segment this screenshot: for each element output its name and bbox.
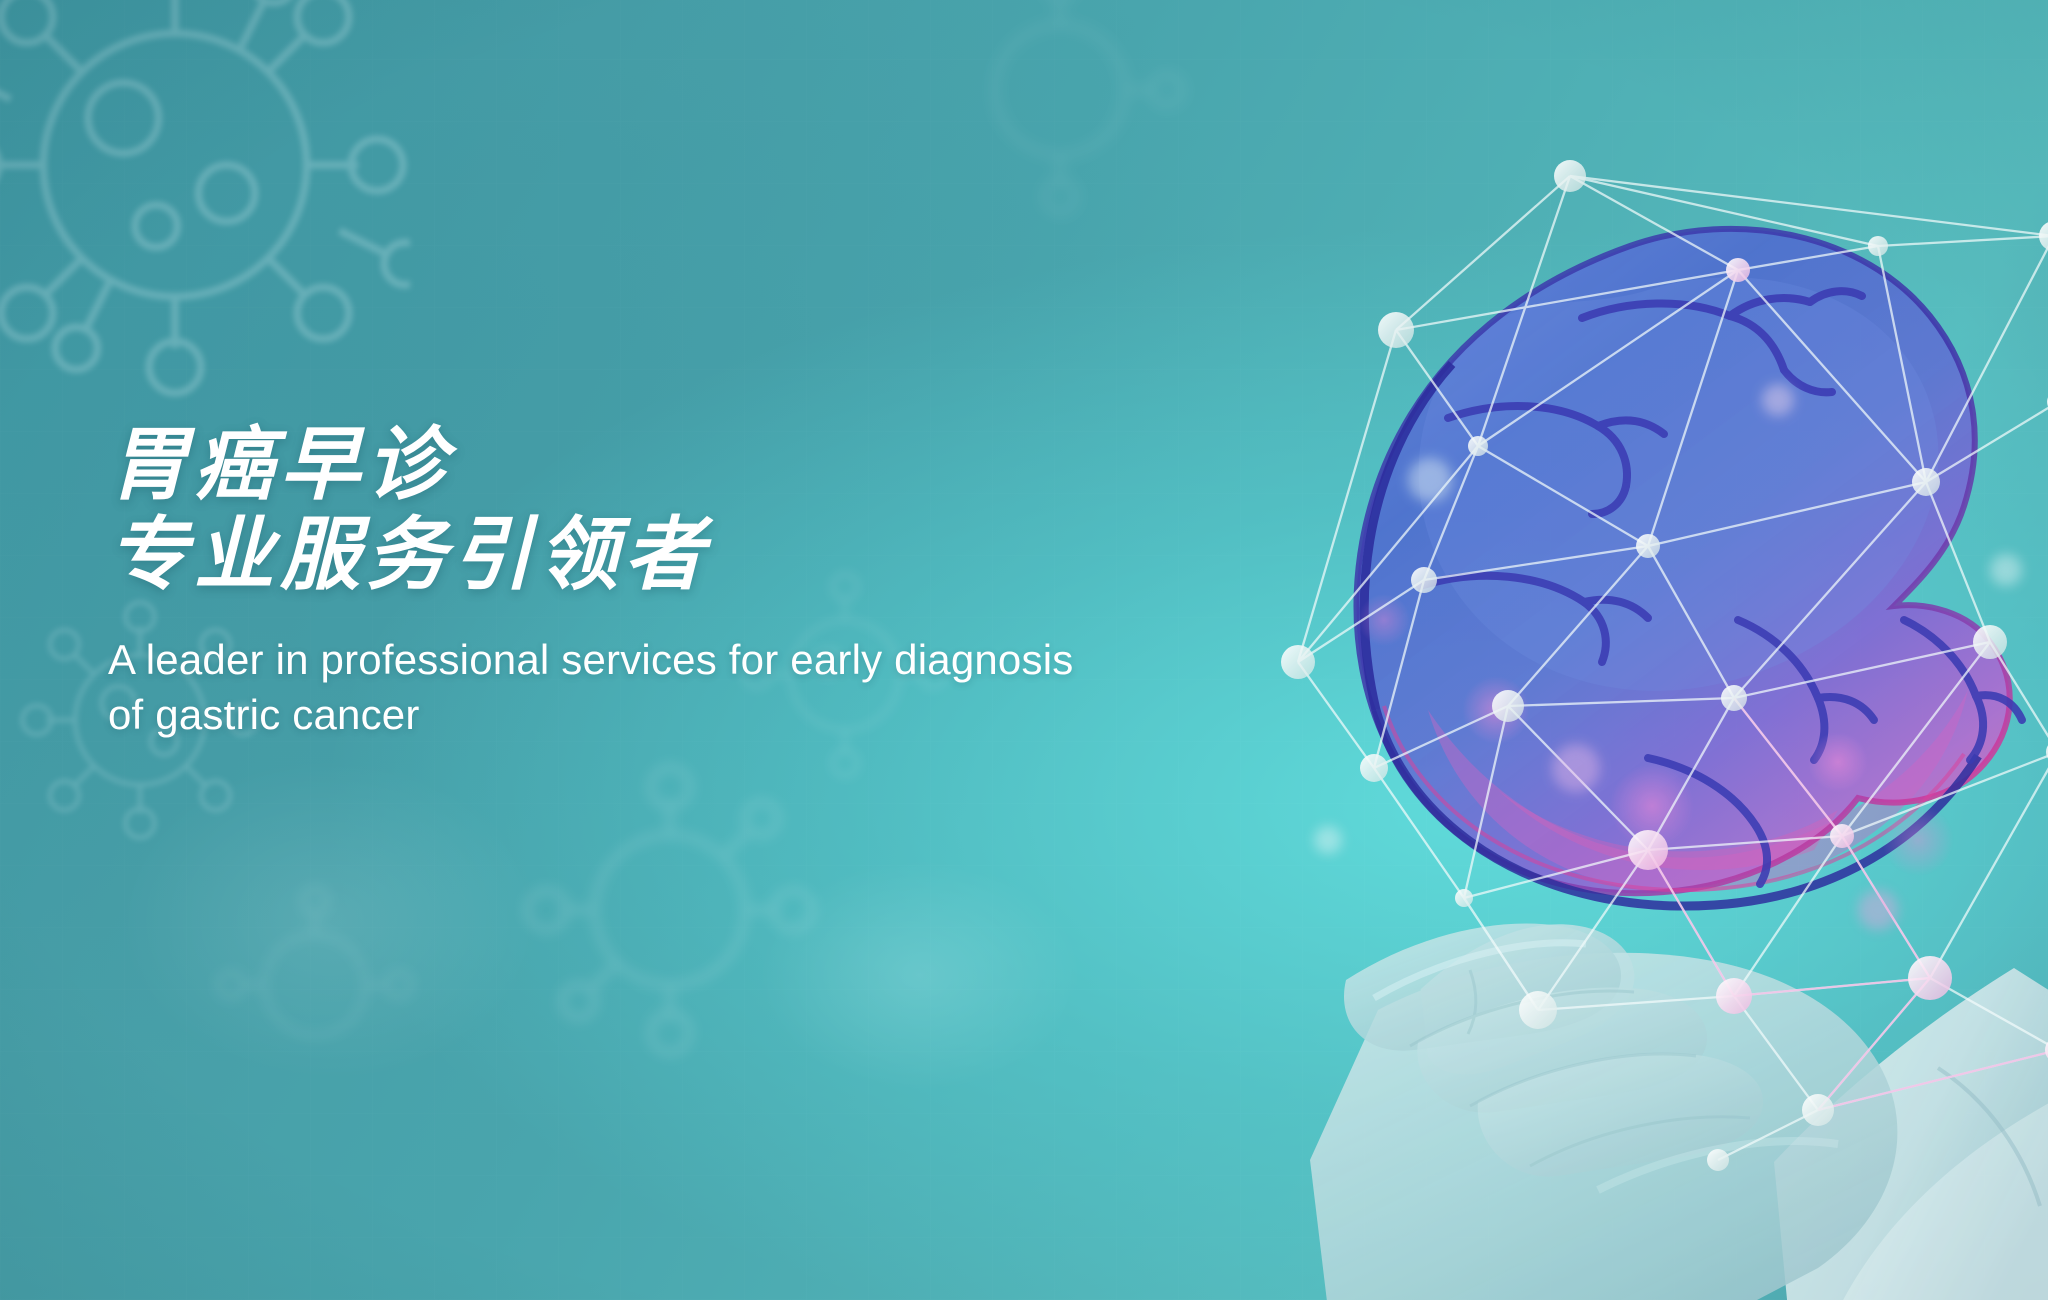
hero-banner: 胃癌早诊 专业服务引领者 A leader in professional se… xyxy=(0,0,2048,1300)
low-poly-network-overlay xyxy=(1281,160,2048,1171)
headline-line-1: 胃癌早诊 xyxy=(108,420,1168,510)
page-subtitle: A leader in professional services for ea… xyxy=(108,633,1108,742)
hero-copy: 胃癌早诊 专业服务引领者 A leader in professional se… xyxy=(108,420,1168,742)
virus-icon xyxy=(930,0,1190,220)
stomach-illustration xyxy=(1356,229,2022,906)
open-hand xyxy=(1310,850,2048,1300)
light-blob xyxy=(120,760,540,1080)
virus-icon xyxy=(0,0,410,400)
virus-icon xyxy=(210,880,420,1090)
stomach-hand-artwork xyxy=(1178,150,2048,1300)
headline-line-2: 专业服务引领者 xyxy=(108,510,1168,600)
virus-icon xyxy=(520,760,820,1060)
light-blob xyxy=(760,860,1080,1090)
page-title: 胃癌早诊 专业服务引领者 xyxy=(108,420,1168,599)
